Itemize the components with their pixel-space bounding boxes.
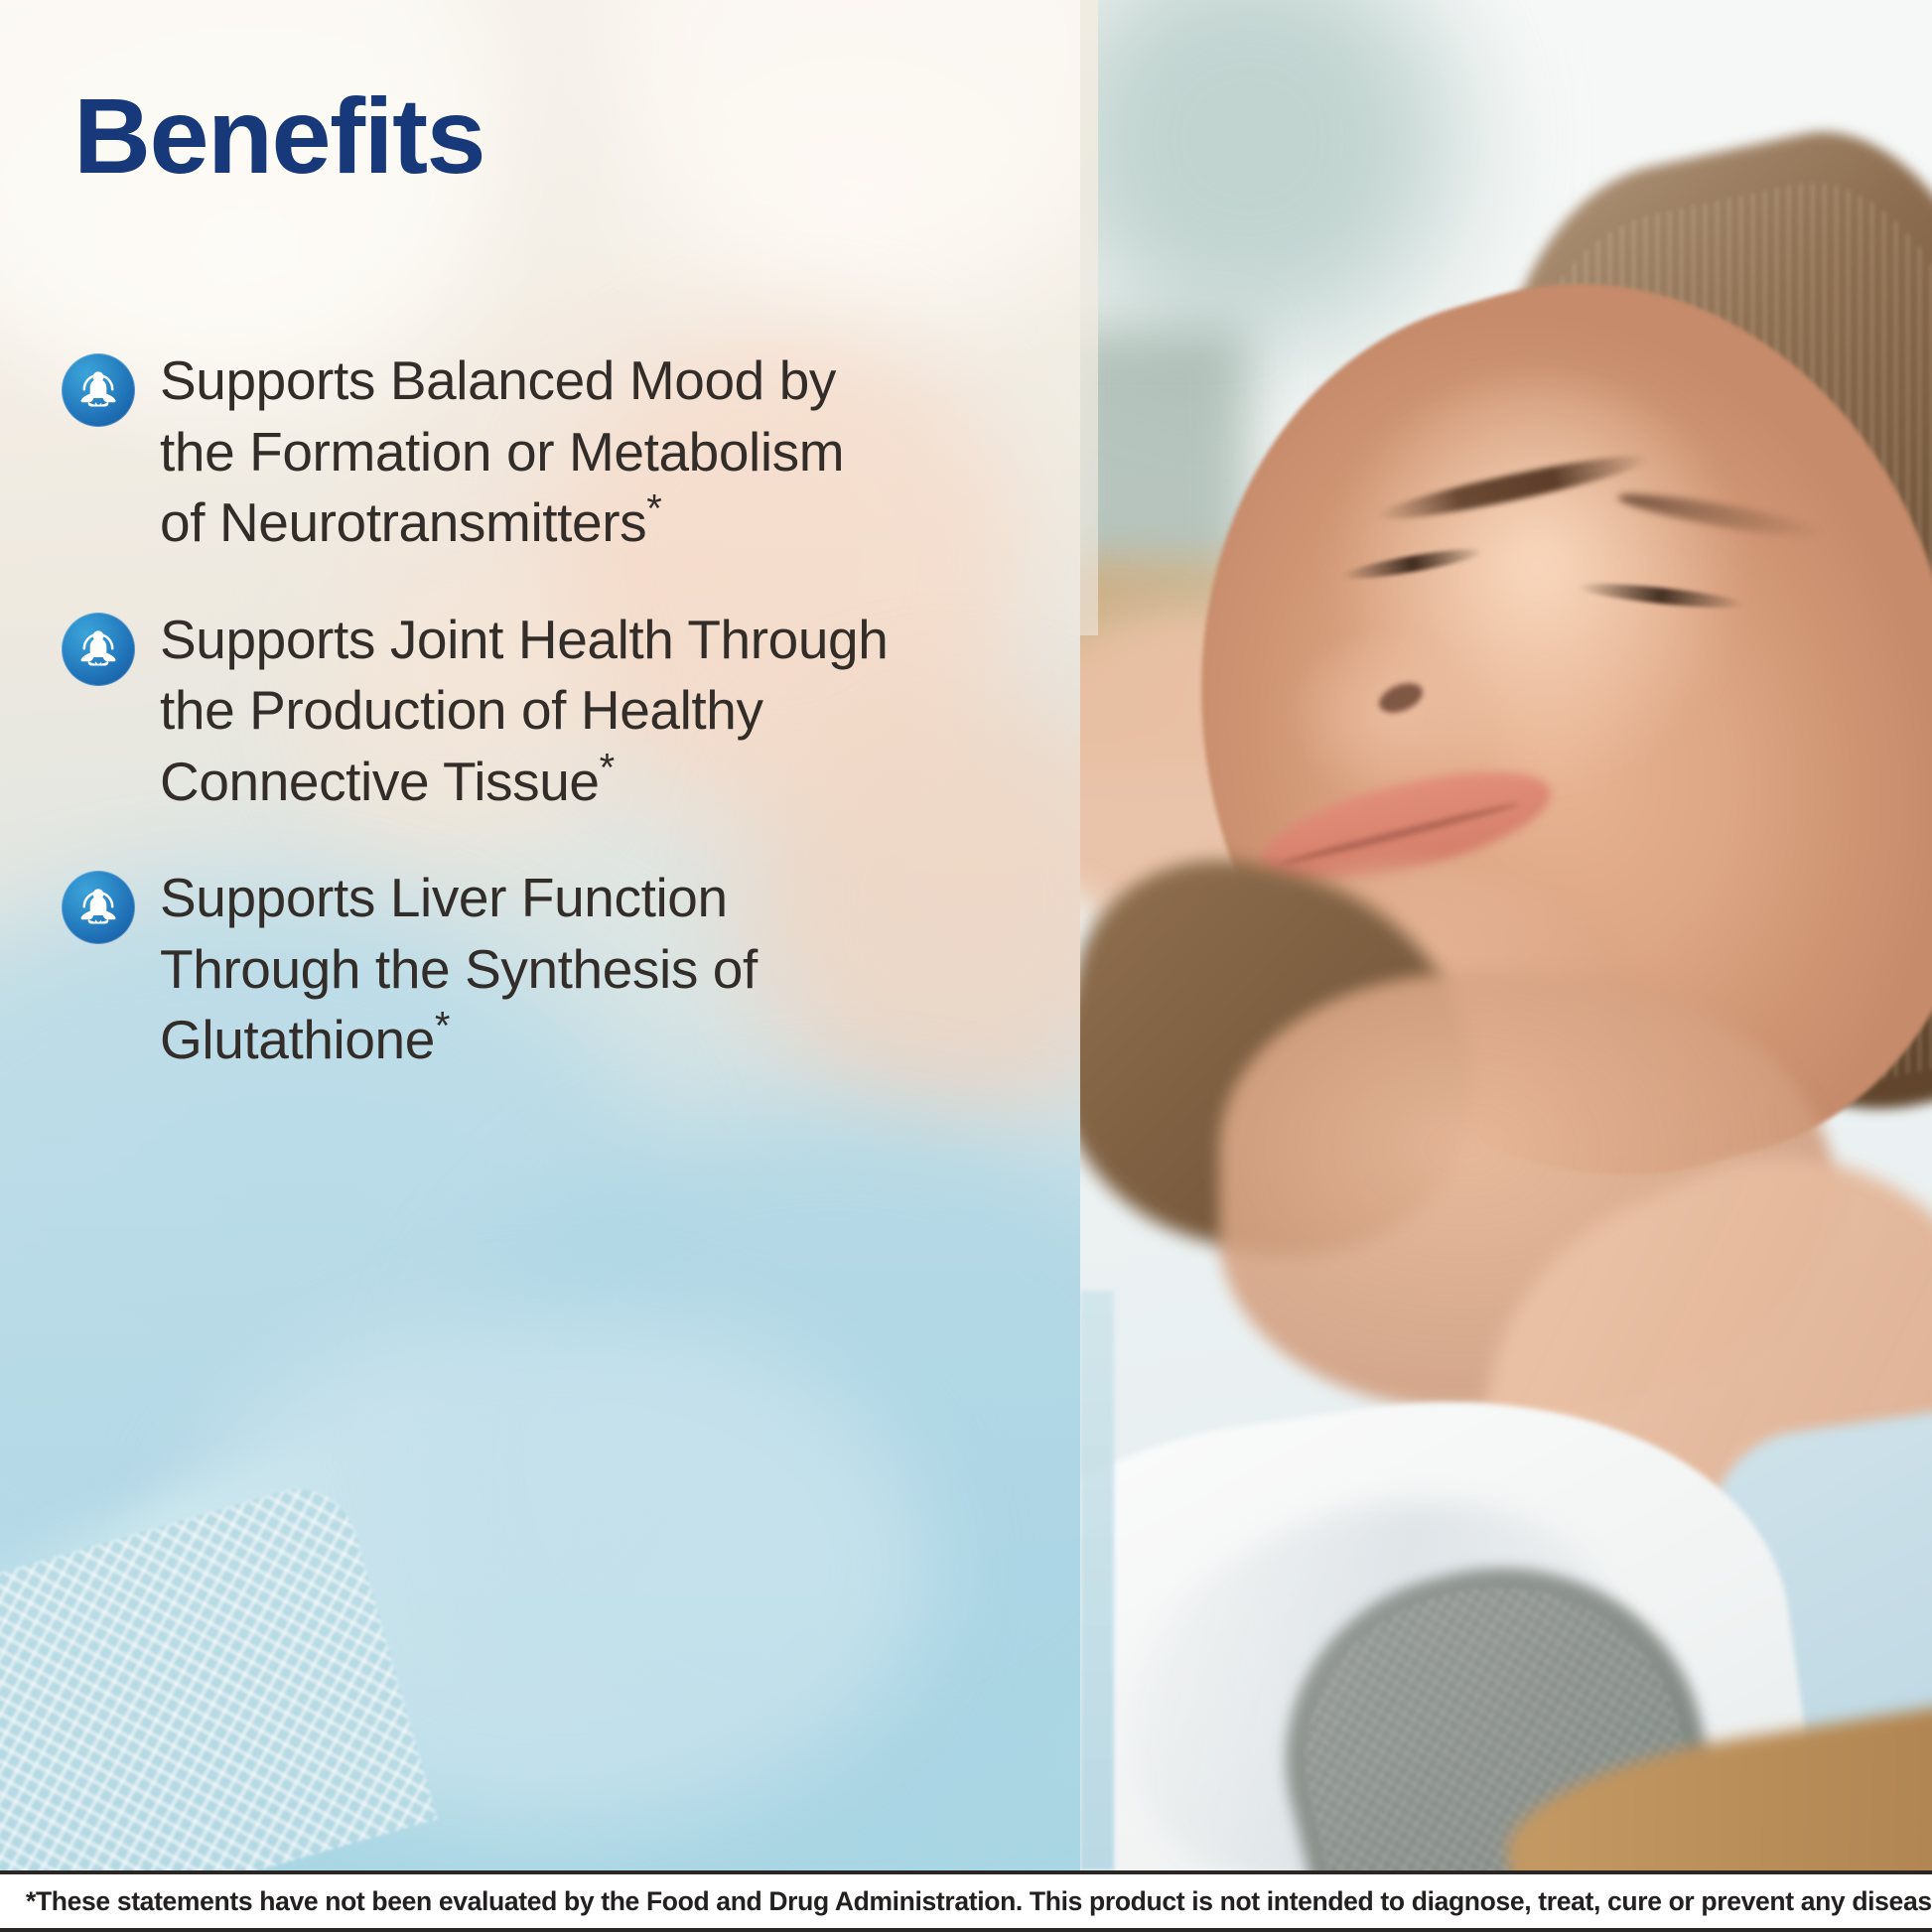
benefits-infographic: Benefits S: [0, 0, 1932, 1932]
benefit-item: Supports Balanced Mood by the Formation …: [62, 345, 1054, 559]
benefit-text: Supports Balanced Mood by the Formation …: [160, 345, 899, 559]
lifestyle-photo: [1080, 0, 1932, 1870]
benefit-text: Supports Liver Function Through the Synt…: [160, 863, 899, 1076]
footnote-marker: *: [600, 746, 615, 789]
photo-left-edge: [1080, 1291, 1114, 1870]
benefit-text: Supports Joint Health Through the Produc…: [160, 605, 899, 818]
benefits-content: Benefits S: [0, 0, 1080, 1870]
meditation-lotus-icon: [62, 353, 135, 427]
benefit-list: Supports Balanced Mood by the Formation …: [62, 345, 1054, 1122]
footnote-marker: *: [435, 1005, 450, 1048]
benefits-panel: Benefits S: [0, 0, 1080, 1870]
benefit-item: Supports Joint Health Through the Produc…: [62, 605, 1054, 818]
benefit-label: Supports Balanced Mood by the Formation …: [160, 349, 844, 553]
fda-disclaimer-text: *These statements have not been evaluate…: [0, 1886, 1932, 1917]
meditation-lotus-icon: [62, 871, 135, 944]
benefit-item: Supports Liver Function Through the Synt…: [62, 863, 1054, 1076]
fda-disclaimer-bar: *These statements have not been evaluate…: [0, 1870, 1932, 1932]
photo-left-edge-top: [1080, 0, 1098, 635]
meditation-lotus-icon: [62, 613, 135, 686]
benefit-label: Supports Liver Function Through the Synt…: [160, 867, 758, 1070]
benefit-label: Supports Joint Health Through the Produc…: [160, 609, 888, 812]
page-title: Benefits: [73, 79, 484, 192]
footnote-marker: *: [646, 487, 661, 531]
